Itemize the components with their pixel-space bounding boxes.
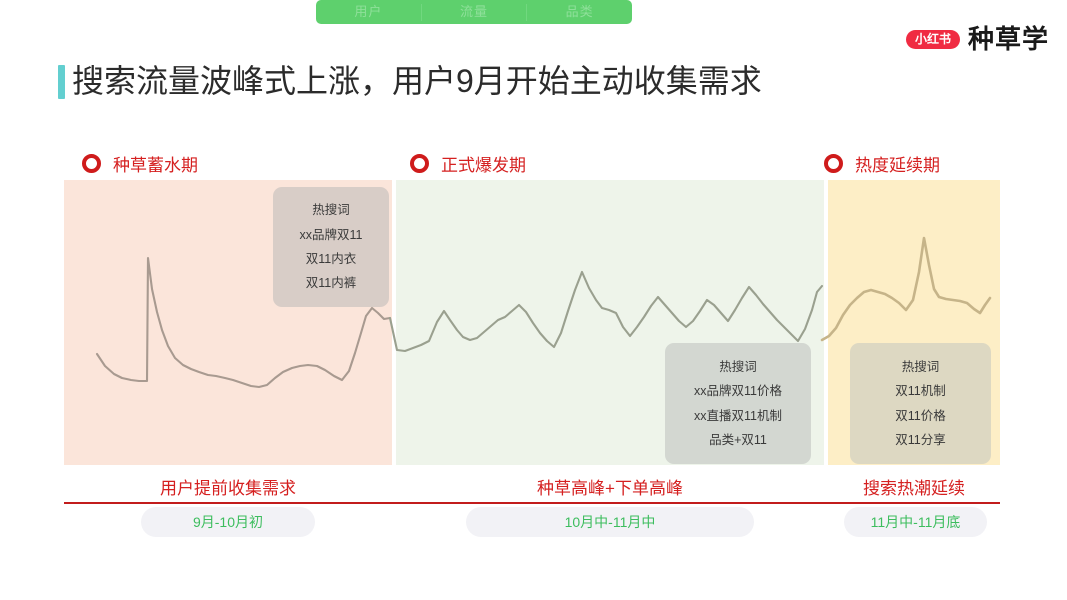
hot-search-callout-3: 热搜词 双11机制 双11价格 双11分享 (850, 343, 991, 464)
callout-title: 热搜词 (902, 355, 940, 379)
brand-wordmark: 种草学 (968, 26, 1049, 52)
page-title: 搜索流量波峰式上涨，用户9月开始主动收集需求 (58, 64, 762, 99)
callout-item: 双11价格 (895, 404, 945, 428)
callout-item: 双11内衣 (306, 247, 356, 271)
date-range-pill-3: 11月中-11月底 (844, 507, 987, 537)
callout-title: 热搜词 (312, 198, 350, 222)
callout-item: xx品牌双11 (300, 223, 363, 247)
hot-search-callout-1: 热搜词 xx品牌双11 双11内衣 双11内裤 (273, 187, 389, 307)
title-text: 搜索流量波峰式上涨，用户9月开始主动收集需求 (72, 64, 762, 99)
tab-category[interactable]: 品类 (527, 0, 632, 24)
hot-search-callout-2: 热搜词 xx品牌双11价格 xx直播双11机制 品类+双11 (665, 343, 811, 464)
phase-summary-3: 搜索热潮延续 (828, 474, 1000, 499)
callout-item: 双11机制 (895, 379, 945, 403)
xiaohongshu-logo-pill: 小红书 (906, 30, 960, 49)
phase-summary-1: 用户提前收集需求 (64, 474, 392, 499)
callout-item: xx直播双11机制 (694, 404, 782, 428)
slide-canvas: 用户 流量 品类 小红书 种草学 搜索流量波峰式上涨，用户9月开始主动收集需求 … (0, 0, 1067, 600)
callout-item: 双11分享 (895, 428, 945, 452)
tab-traffic[interactable]: 流量 (422, 0, 527, 24)
callout-item: 双11内裤 (306, 271, 356, 295)
date-range-pill-1: 9月-10月初 (141, 507, 315, 537)
phase-summary-2: 种草高峰+下单高峰 (396, 474, 824, 499)
phase-marker-2: 正式爆发期 (410, 151, 526, 176)
top-tab-bar[interactable]: 用户 流量 品类 (316, 0, 632, 24)
brand-logo: 小红书 种草学 (906, 26, 1049, 52)
phase-marker-label-2: 正式爆发期 (441, 151, 526, 176)
callout-item: xx品牌双11价格 (694, 379, 782, 403)
phase-marker-3: 热度延续期 (824, 151, 940, 176)
date-range-pill-2: 10月中-11月中 (466, 507, 754, 537)
circle-ring-icon (824, 154, 843, 173)
timeline-rule (64, 502, 1000, 504)
tab-users[interactable]: 用户 (316, 0, 421, 24)
tab-divider (421, 4, 422, 21)
circle-ring-icon (410, 154, 429, 173)
title-accent-bar (58, 65, 65, 99)
phase-marker-1: 种草蓄水期 (82, 151, 198, 176)
phase-marker-label-1: 种草蓄水期 (113, 151, 198, 176)
circle-ring-icon (82, 154, 101, 173)
phase-marker-label-3: 热度延续期 (855, 151, 940, 176)
callout-title: 热搜词 (719, 355, 757, 379)
callout-item: 品类+双11 (709, 428, 767, 452)
tab-divider (526, 4, 527, 21)
